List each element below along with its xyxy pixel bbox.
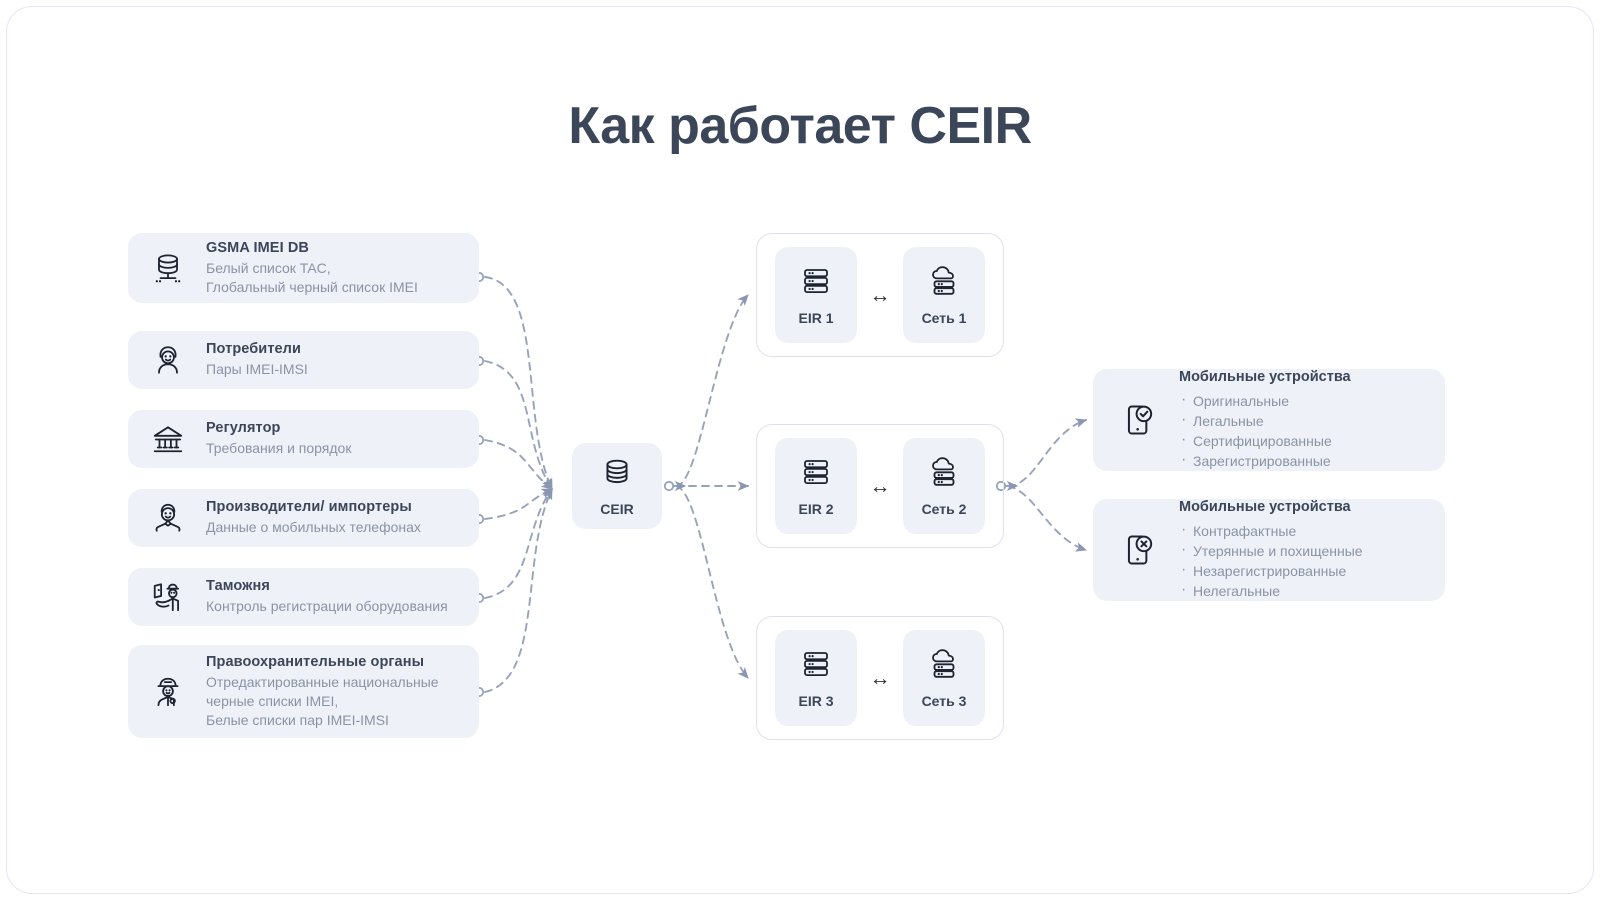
customs-officer-icon: [146, 575, 190, 619]
network-tile-2[interactable]: Сеть 2: [903, 438, 985, 534]
list-item: Сертифицированные: [1179, 431, 1351, 451]
list-item: Легальные: [1179, 411, 1351, 431]
eir-label: EIR 2: [798, 501, 833, 517]
source-card-gsma-imei-db[interactable]: GSMA IMEI DB Белый список TAC, Глобальны…: [128, 233, 479, 303]
cloud-server-icon: [928, 265, 960, 302]
database-icon: [600, 456, 634, 495]
list-item: Оригинальные: [1179, 391, 1351, 411]
source-title: Таможня: [206, 578, 448, 594]
source-card-law-enforcement[interactable]: Правоохранительные органы Отредактирован…: [128, 645, 479, 738]
result-card-devices-blocked[interactable]: Мобильные устройства Контрафактные Утеря…: [1093, 499, 1445, 601]
network-tile-3[interactable]: Сеть 3: [903, 630, 985, 726]
result-list: Контрафактные Утерянные и похищенные Нез…: [1179, 521, 1363, 601]
manufacturer-person-icon: [146, 496, 190, 540]
source-title: Производители/ импортеры: [206, 499, 421, 515]
source-title: GSMA IMEI DB: [206, 240, 418, 256]
list-item: Незарегистрированные: [1179, 561, 1363, 581]
eir-tile-3[interactable]: EIR 3: [775, 630, 857, 726]
source-card-regulator[interactable]: Регулятор Требования и порядок: [128, 410, 479, 468]
list-item: Нелегальные: [1179, 581, 1363, 601]
ceir-label: CEIR: [600, 501, 633, 517]
source-title: Потребители: [206, 341, 308, 357]
source-subtitle: Требования и порядок: [206, 439, 351, 458]
bidirectional-arrow-icon: ↔: [857, 668, 903, 689]
network-label: Сеть 1: [922, 310, 967, 326]
network-label: Сеть 2: [922, 501, 967, 517]
phone-cross-icon: [1115, 527, 1161, 573]
eir-group-2[interactable]: EIR 2 ↔ Сеть 2: [756, 424, 1004, 548]
ceir-node[interactable]: CEIR: [572, 443, 662, 529]
source-subtitle: Белый список TAC, Глобальный черный спис…: [206, 259, 418, 297]
bidirectional-arrow-icon: ↔: [857, 285, 903, 306]
result-list: Оригинальные Легальные Сертифицированные…: [1179, 391, 1351, 471]
source-subtitle: Контроль регистрации оборудования: [206, 597, 448, 616]
cloud-server-icon: [928, 456, 960, 493]
consumer-person-icon: [146, 338, 190, 382]
source-card-consumers[interactable]: Потребители Пары IMEI-IMSI: [128, 331, 479, 389]
bidirectional-arrow-icon: ↔: [857, 476, 903, 497]
source-subtitle: Отредактированные национальные черные сп…: [206, 673, 439, 730]
government-building-icon: [146, 417, 190, 461]
server-rack-icon: [800, 648, 832, 685]
diagram-canvas: Как работает CEIR: [0, 0, 1600, 900]
phone-check-icon: [1115, 397, 1161, 443]
server-rack-icon: [800, 456, 832, 493]
source-card-customs[interactable]: Таможня Контроль регистрации оборудовани…: [128, 568, 479, 626]
server-rack-icon: [800, 265, 832, 302]
cloud-server-icon: [928, 648, 960, 685]
result-card-devices-allowed[interactable]: Мобильные устройства Оригинальные Легаль…: [1093, 369, 1445, 471]
database-icon: [146, 246, 190, 290]
network-label: Сеть 3: [922, 693, 967, 709]
list-item: Утерянные и похищенные: [1179, 541, 1363, 561]
list-item: Зарегистрированные: [1179, 451, 1351, 471]
list-item: Контрафактные: [1179, 521, 1363, 541]
source-title: Правоохранительные органы: [206, 654, 439, 670]
result-title: Мобильные устройства: [1179, 499, 1363, 515]
eir-group-1[interactable]: EIR 1 ↔ Сеть 1: [756, 233, 1004, 357]
network-tile-1[interactable]: Сеть 1: [903, 247, 985, 343]
source-card-manufacturers-importers[interactable]: Производители/ импортеры Данные о мобиль…: [128, 489, 479, 547]
source-title: Регулятор: [206, 420, 351, 436]
eir-label: EIR 1: [798, 310, 833, 326]
eir-tile-2[interactable]: EIR 2: [775, 438, 857, 534]
police-officer-icon: [146, 670, 190, 714]
page-title: Как работает CEIR: [0, 96, 1600, 156]
eir-group-3[interactable]: EIR 3 ↔ Сеть 3: [756, 616, 1004, 740]
eir-tile-1[interactable]: EIR 1: [775, 247, 857, 343]
source-subtitle: Пары IMEI-IMSI: [206, 360, 308, 379]
result-title: Мобильные устройства: [1179, 369, 1351, 385]
source-subtitle: Данные о мобильных телефонах: [206, 518, 421, 537]
eir-label: EIR 3: [798, 693, 833, 709]
